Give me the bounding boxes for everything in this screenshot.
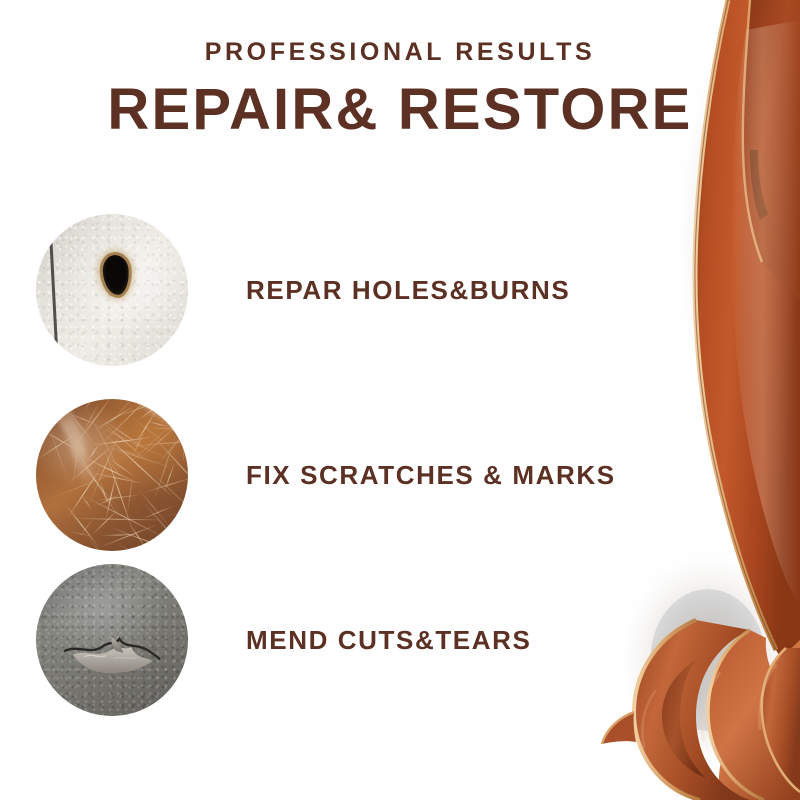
scratch-line: [159, 497, 188, 519]
grey-leather-tear-swatch: Grey pebbled leather with a horizontal s…: [36, 564, 188, 716]
cut-tear-damage: [63, 629, 160, 675]
feature-label: REPAR HOLES&BURNS: [246, 277, 570, 303]
feature-row: White pebbled leather with a dark burn h…: [36, 214, 656, 366]
scratch-line: [39, 409, 51, 429]
leather-fold-gap: [750, 150, 768, 220]
coil-cavity: [662, 660, 706, 778]
coil-tongue-edge: [602, 712, 634, 744]
product-feature-poster: PROFESSIONAL RESULTS REPAIR& RESTORE Whi…: [0, 0, 800, 800]
feature-row: Brown leather covered in fine pale scrat…: [36, 399, 656, 551]
tear-svg: [63, 629, 160, 675]
coil-band-middle: [708, 630, 800, 800]
white-leather-burn-hole-swatch: White pebbled leather with a dark burn h…: [36, 214, 188, 366]
coil-band-middle-edge: [708, 630, 764, 800]
scratch-line: [141, 549, 161, 551]
scratch-line: [64, 503, 99, 547]
coil-highlight-2: [760, 664, 776, 730]
eyebrow-text: PROFESSIONAL RESULTS: [0, 40, 800, 65]
coil-highlight-1: [703, 672, 720, 742]
page-title: REPAIR& RESTORE: [0, 80, 800, 141]
scratch-line: [79, 546, 150, 551]
coil-band-inner-edge: [762, 648, 800, 792]
brown-leather-scratches-swatch: Brown leather covered in fine pale scrat…: [36, 399, 188, 551]
scratch-line: [187, 486, 188, 507]
feature-label: FIX SCRATCHES & MARKS: [246, 462, 616, 488]
coil-band-outer: [719, 640, 800, 800]
coil-band-inner: [762, 648, 800, 792]
feature-row: Grey pebbled leather with a horizontal s…: [36, 564, 656, 716]
feature-label: MEND CUTS&TEARS: [246, 627, 531, 653]
scratch-line: [75, 550, 95, 551]
coil-tongue: [602, 712, 636, 744]
